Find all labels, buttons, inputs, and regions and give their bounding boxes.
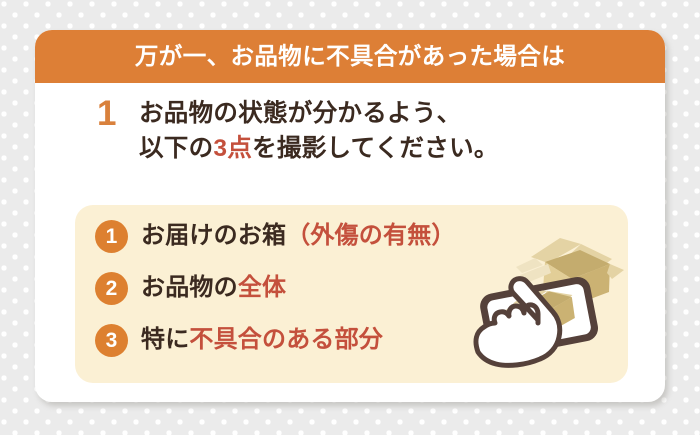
step-line-2-prefix: 以下の xyxy=(139,135,213,162)
step-number: 1 xyxy=(97,96,116,131)
checklist-text-3-plain: 特に xyxy=(141,326,189,353)
step-line-2: 以下の3点を撮影してください。 xyxy=(139,132,599,167)
list-item: 2 お品物の全体 xyxy=(95,269,286,307)
card-header: 万が一、お品物に不具合があった場合は xyxy=(35,30,665,83)
step-section: 1 お品物の状態が分かるよう、 以下の3点を撮影してください。 xyxy=(35,83,665,203)
cardboard-box-icon xyxy=(516,238,624,307)
checklist-text-1: お届けのお箱（外傷の有無） xyxy=(141,224,456,248)
checklist-badge-3: 3 xyxy=(95,324,128,357)
checklist-text-2-accent: 全体 xyxy=(238,274,286,301)
pointing-hand-icon xyxy=(476,279,560,366)
checklist-panel: 1 お届けのお箱（外傷の有無） 2 お品物の全体 3 特に不具合のある部分 xyxy=(75,205,628,383)
step-line-1: お品物の状態が分かるよう、 xyxy=(139,97,599,132)
checklist-text-3: 特に不具合のある部分 xyxy=(141,328,383,352)
checklist-text-1-accent: （外傷の有無） xyxy=(286,222,455,249)
notice-card: 万が一、お品物に不具合があった場合は 1 お品物の状態が分かるよう、 以下の3点… xyxy=(35,30,665,402)
step-line-2-suffix: を撮影してください。 xyxy=(252,135,499,162)
checklist-text-3-accent: 不具合のある部分 xyxy=(189,326,383,353)
page-title: 万が一、お品物に不具合があった場合は xyxy=(135,45,565,69)
tablet-device-icon xyxy=(478,275,600,360)
checklist-text-2: お品物の全体 xyxy=(141,276,286,300)
checklist-badge-1: 1 xyxy=(95,220,128,253)
checklist-text-2-plain: お品物の xyxy=(141,274,238,301)
step-text-block: お品物の状態が分かるよう、 以下の3点を撮影してください。 xyxy=(139,97,599,167)
checklist-text-1-plain: お届けのお箱 xyxy=(141,222,286,249)
screen-box-preview xyxy=(499,282,578,341)
checklist-badge-2: 2 xyxy=(95,272,128,305)
page-background: 万が一、お品物に不具合があった場合は 1 お品物の状態が分かるよう、 以下の3点… xyxy=(0,0,700,435)
list-item: 3 特に不具合のある部分 xyxy=(95,321,383,359)
list-item: 1 お届けのお箱（外傷の有無） xyxy=(95,217,456,255)
step-line-2-accent: 3点 xyxy=(213,135,252,162)
hand-photographing-box-illustration xyxy=(460,213,628,378)
